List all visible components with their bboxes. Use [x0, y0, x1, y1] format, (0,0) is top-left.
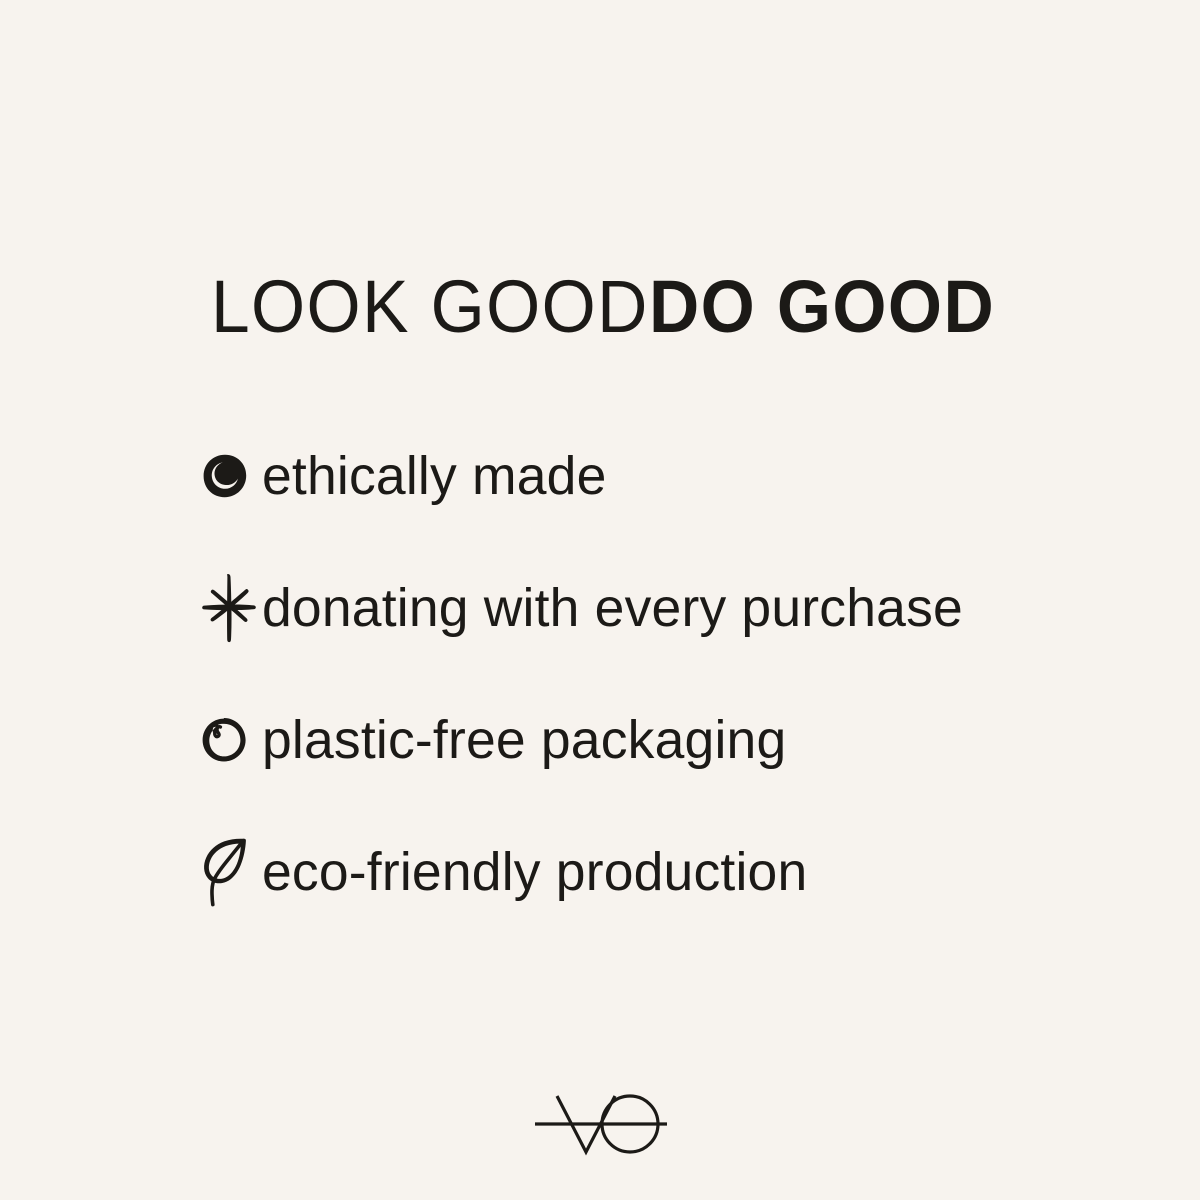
promo-poster: LOOK GOOD DO GOOD ethically made: [0, 0, 1200, 1200]
list-item: donating with every purchase: [200, 542, 1100, 674]
feature-list: ethically made donating w: [200, 410, 1100, 938]
list-item-label: ethically made: [262, 446, 607, 506]
page-title-light: LOOK GOOD: [211, 264, 649, 350]
page-title: LOOK GOOD DO GOOD: [0, 264, 1200, 350]
page-title-bold: DO GOOD: [649, 264, 995, 350]
sparkle-asterisk-icon: [200, 571, 262, 645]
open-ring-icon: [200, 703, 262, 777]
vo-monogram-logo: [0, 1082, 1200, 1162]
filled-circle-crescent-icon: [200, 439, 262, 513]
list-item-label: donating with every purchase: [262, 578, 963, 638]
list-item: ethically made: [200, 410, 1100, 542]
list-item-label: eco-friendly production: [262, 842, 807, 902]
leaf-icon: [200, 835, 262, 909]
list-item-label: plastic-free packaging: [262, 710, 786, 770]
list-item: eco-friendly production: [200, 806, 1100, 938]
list-item: plastic-free packaging: [200, 674, 1100, 806]
